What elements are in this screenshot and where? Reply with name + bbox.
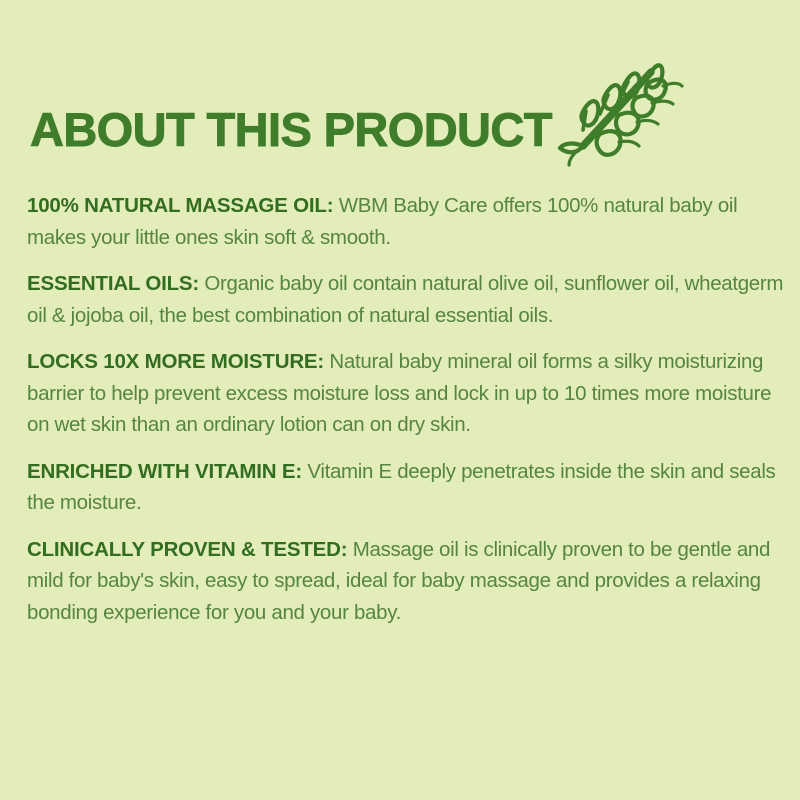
wheat-sprig-icon: [555, 42, 685, 172]
feature-label: ESSENTIAL OILS:: [27, 272, 199, 295]
feature-item: ESSENTIAL OILS: Organic baby oil contain…: [27, 268, 793, 331]
feature-label: ENRICHED WITH VITAMIN E:: [27, 460, 302, 483]
feature-item: CLINICALLY PROVEN & TESTED: Massage oil …: [27, 534, 793, 629]
feature-item: 100% NATURAL MASSAGE OIL: WBM Baby Care …: [27, 190, 793, 253]
feature-label: CLINICALLY PROVEN & TESTED:: [27, 538, 347, 561]
feature-list: 100% NATURAL MASSAGE OIL: WBM Baby Care …: [27, 190, 793, 628]
product-info-card: ABOUT THIS PRODUCT 100% NATURAL MASSAGE …: [0, 0, 800, 800]
feature-item: LOCKS 10X MORE MOISTURE: Natural baby mi…: [27, 346, 793, 441]
page-title: ABOUT THIS PRODUCT: [30, 104, 552, 156]
feature-label: 100% NATURAL MASSAGE OIL:: [27, 194, 333, 217]
feature-label: LOCKS 10X MORE MOISTURE:: [27, 350, 324, 373]
feature-item: ENRICHED WITH VITAMIN E: Vitamin E deepl…: [27, 456, 793, 519]
